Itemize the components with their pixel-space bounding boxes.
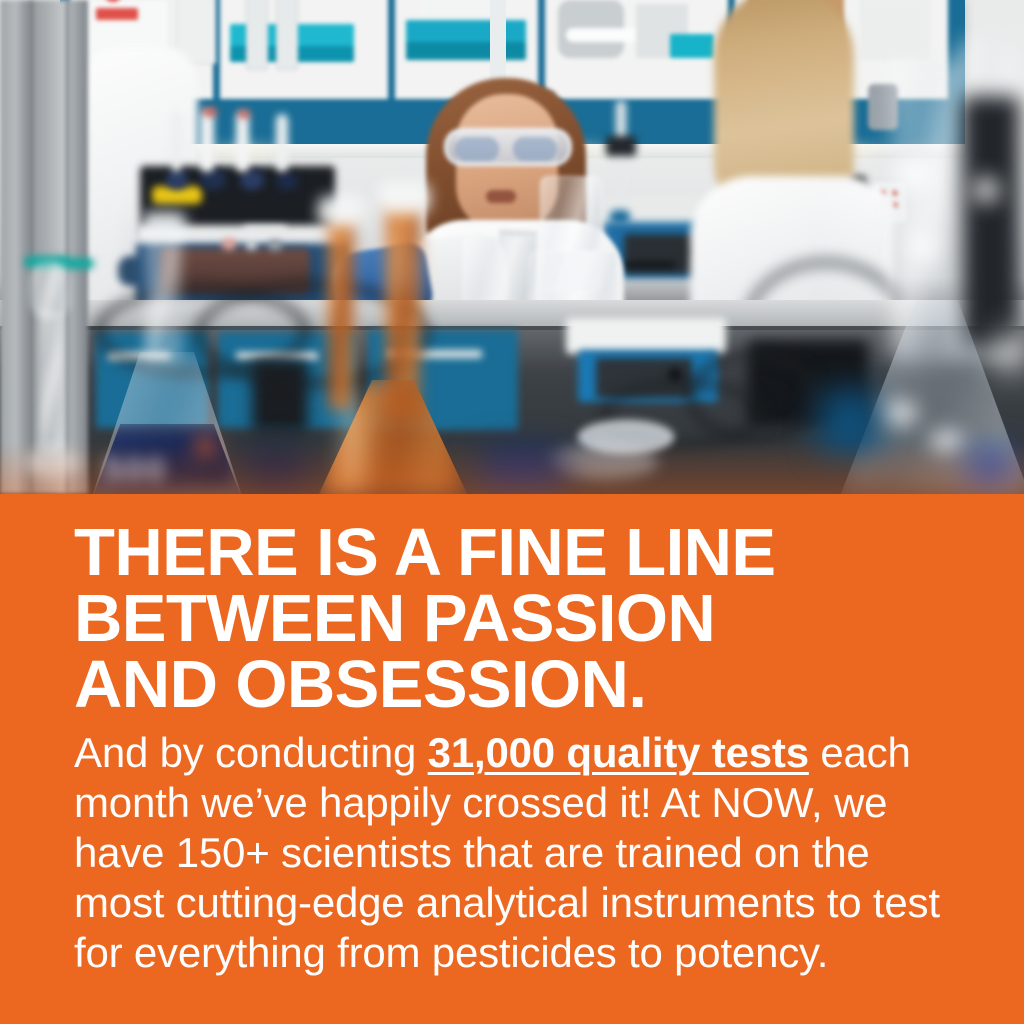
balance-platform: [566, 318, 726, 354]
flask-neck: [146, 222, 180, 362]
headline-line-3: AND OBSESSION.: [74, 652, 954, 718]
body-text-before: And by conducting: [74, 729, 428, 776]
dark-column: [962, 96, 1020, 346]
safety-goggles-icon: [444, 128, 572, 166]
headline-line-1: THERE IS A FINE LINE: [74, 520, 954, 586]
headline-line-2: BETWEEN PASSION: [74, 586, 954, 652]
quality-tests-highlight: 31,000 quality tests: [428, 729, 809, 776]
amber-flask-neck: [328, 214, 354, 410]
pipette-stem: [40, 312, 62, 452]
pipette-bulb: [30, 262, 70, 318]
mouth: [486, 190, 516, 203]
page-title: THERE IS A FINE LINE BETWEEN PASSION AND…: [74, 520, 954, 718]
amber-flask-stopper: [318, 196, 364, 226]
amber-flask-stopper: [378, 182, 430, 214]
body-copy: And by conducting 31,000 quality tests e…: [74, 728, 960, 978]
orange-text-panel: THERE IS A FINE LINE BETWEEN PASSION AND…: [0, 494, 1024, 1024]
glass-highlight: [404, 250, 418, 286]
social-card: 500 THERE IS A FINE LINE BETWEEN PASSI: [0, 0, 1024, 1024]
photo-bottom-fade: [0, 442, 1024, 494]
flask-stopper: [142, 212, 186, 234]
lab-photo: 500: [0, 0, 1024, 494]
